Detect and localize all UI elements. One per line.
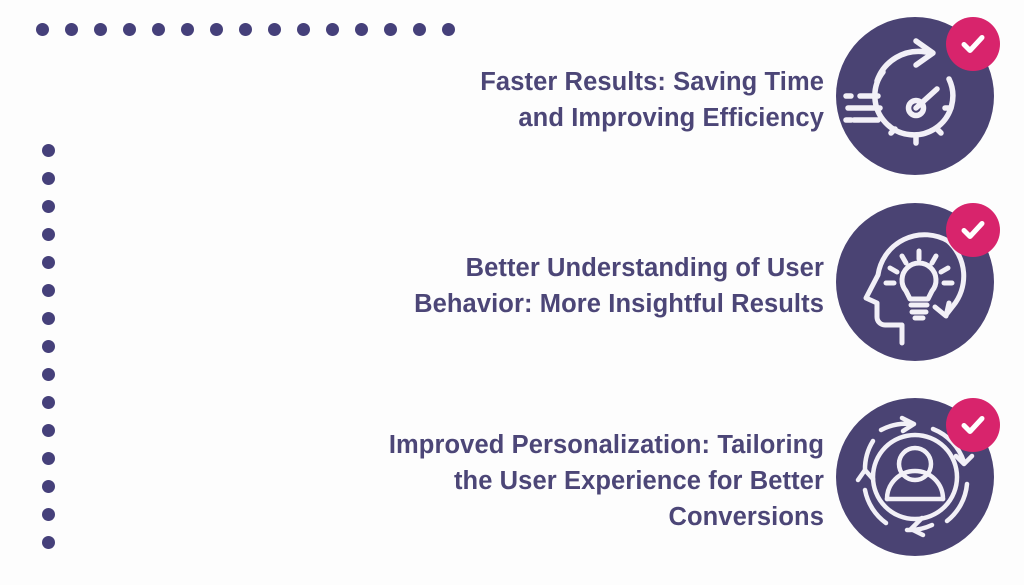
- decorative-dot: [42, 144, 55, 157]
- icon-container-better-understanding: [836, 203, 1000, 369]
- check-badge-icon: [946, 17, 1000, 71]
- checkmark-icon: [958, 410, 988, 440]
- decorative-dot: [152, 23, 165, 36]
- decorative-dot: [36, 23, 49, 36]
- check-badge-icon: [946, 203, 1000, 257]
- benefit-row-faster-results: Faster Results: Saving Time and Improvin…: [300, 17, 1000, 183]
- decorative-dot: [268, 23, 281, 36]
- checkmark-icon: [958, 29, 988, 59]
- decorative-dot: [42, 200, 55, 213]
- benefit-text-better-understanding: Better Understanding of User Behavior: M…: [414, 250, 836, 322]
- decorative-dot: [42, 452, 55, 465]
- decorative-dot: [42, 340, 55, 353]
- decorative-dot: [42, 424, 55, 437]
- vertical-dot-column: [42, 144, 55, 564]
- slide-canvas: Faster Results: Saving Time and Improvin…: [0, 0, 1024, 585]
- decorative-dot: [42, 172, 55, 185]
- icon-container-faster-results: [836, 17, 1000, 183]
- check-badge-icon: [946, 398, 1000, 452]
- decorative-dot: [123, 23, 136, 36]
- decorative-dot: [42, 396, 55, 409]
- decorative-dot: [42, 312, 55, 325]
- benefit-text-improved-personalization: Improved Personalization: Tailoring the …: [389, 427, 836, 535]
- decorative-dot: [42, 368, 55, 381]
- decorative-dot: [210, 23, 223, 36]
- decorative-dot: [42, 480, 55, 493]
- decorative-dot: [94, 23, 107, 36]
- decorative-dot: [42, 508, 55, 521]
- decorative-dot: [42, 284, 55, 297]
- decorative-dot: [42, 256, 55, 269]
- benefit-row-improved-personalization: Improved Personalization: Tailoring the …: [300, 398, 1000, 564]
- checkmark-icon: [958, 215, 988, 245]
- decorative-dot: [181, 23, 194, 36]
- decorative-dot: [65, 23, 78, 36]
- decorative-dot: [42, 228, 55, 241]
- benefit-row-better-understanding: Better Understanding of User Behavior: M…: [300, 203, 1000, 369]
- icon-container-improved-personalization: [836, 398, 1000, 564]
- decorative-dot: [42, 536, 55, 549]
- decorative-dot: [239, 23, 252, 36]
- benefit-text-faster-results: Faster Results: Saving Time and Improvin…: [480, 64, 836, 136]
